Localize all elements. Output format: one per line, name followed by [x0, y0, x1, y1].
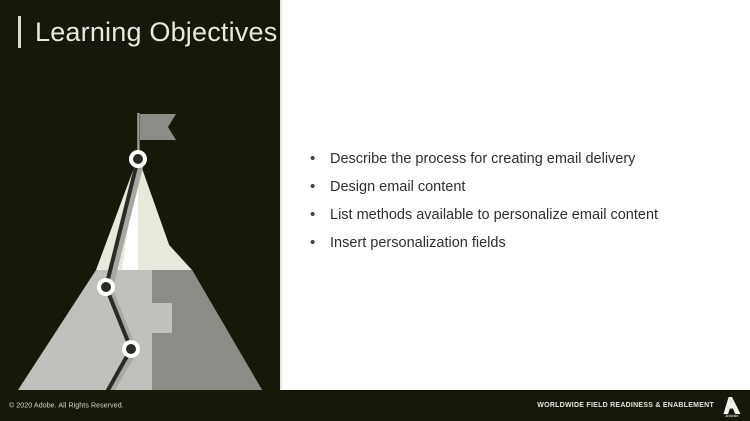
list-item-label: List methods available to personalize em…	[330, 206, 658, 224]
adobe-logo: Adobe	[720, 394, 744, 418]
list-item-label: Insert personalization fields	[330, 234, 506, 252]
slide-footer: © 2020 Adobe. All Rights Reserved. WORLD…	[0, 390, 750, 421]
left-visual-panel: Learning Objectives	[0, 0, 280, 390]
bullet-marker-icon: •	[310, 178, 330, 196]
mountain-illustration	[0, 95, 280, 390]
objectives-list: • Describe the process for creating emai…	[310, 150, 730, 262]
footer-brand-group: WORLDWIDE FIELD READINESS & ENABLEMENT A…	[537, 394, 744, 418]
bullet-marker-icon: •	[310, 234, 330, 252]
list-item-label: Describe the process for creating email …	[330, 150, 635, 168]
flag-banner-icon	[140, 114, 176, 140]
waypoint-node-lower-core	[126, 344, 136, 354]
slide-canvas: Learning Objectives • Describe the proce…	[0, 0, 750, 421]
adobe-wordmark: Adobe	[720, 413, 744, 418]
footer-brandline: WORLDWIDE FIELD READINESS & ENABLEMENT	[537, 402, 714, 409]
list-item-label: Design email content	[330, 178, 465, 196]
waypoint-node-middle-core	[101, 282, 111, 292]
list-item: • Insert personalization fields	[310, 234, 730, 252]
list-item: • Design email content	[310, 178, 730, 196]
title-accent-bar	[18, 16, 21, 48]
list-item: • List methods available to personalize …	[310, 206, 730, 224]
bullet-marker-icon: •	[310, 150, 330, 168]
bullet-marker-icon: •	[310, 206, 330, 224]
panel-divider	[280, 0, 282, 390]
footer-copyright: © 2020 Adobe. All Rights Reserved.	[9, 402, 124, 409]
waypoint-node-summit-core	[133, 154, 143, 164]
page-title: Learning Objectives	[35, 19, 277, 46]
list-item: • Describe the process for creating emai…	[310, 150, 730, 168]
slide-title-group: Learning Objectives	[18, 13, 277, 51]
